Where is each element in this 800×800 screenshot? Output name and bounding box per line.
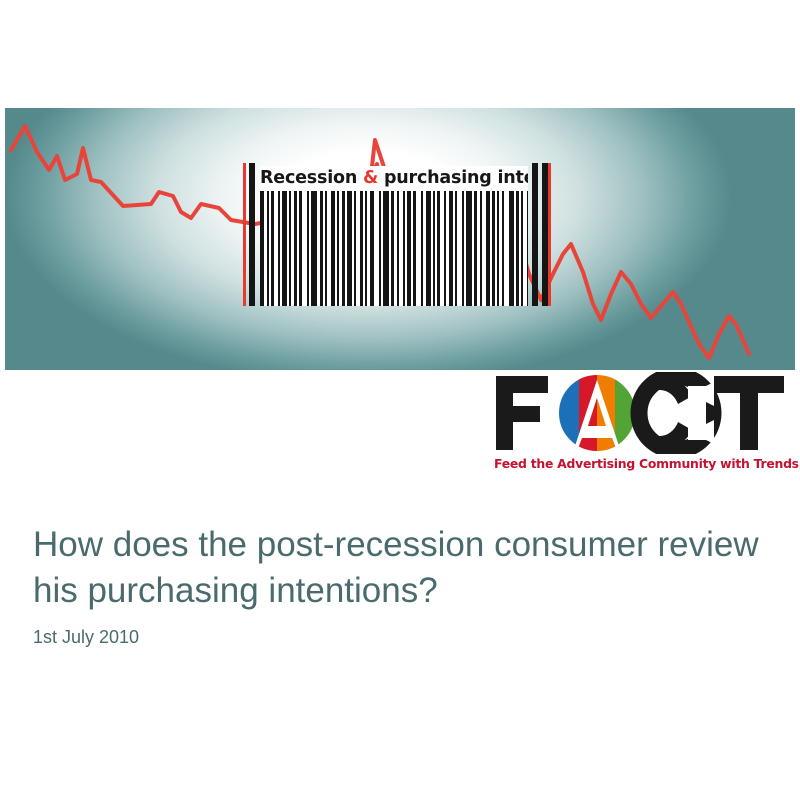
- barcode-label-prefix: Recession: [260, 168, 363, 188]
- barcode-red-guard-right: [548, 163, 551, 306]
- barcode-bar: [347, 191, 352, 306]
- barcode-bar: [527, 191, 528, 306]
- barcode-bar: [480, 191, 482, 306]
- barcode-bar: [260, 191, 264, 306]
- barcode-label: Recession & purchasing intention: [260, 166, 528, 191]
- barcode-bar: [370, 191, 374, 306]
- slide-title: How does the post-recession consumer rev…: [33, 522, 763, 614]
- barcode-bar: [379, 191, 381, 306]
- barcode-bar: [311, 191, 317, 306]
- barcode-bar: [502, 191, 504, 306]
- barcode-bar: [497, 191, 499, 306]
- barcode-bar: [421, 191, 423, 306]
- barcode-bar: [391, 191, 394, 306]
- barcode-bar: [325, 191, 327, 306]
- barcode-bars: [260, 191, 528, 306]
- barcode-bar: [278, 191, 280, 306]
- barcode-bar: [486, 191, 490, 306]
- barcode-bar: [397, 191, 399, 306]
- barcode-bar: [299, 191, 302, 306]
- barcode-bar: [426, 191, 431, 306]
- barcode-bar: [383, 191, 389, 306]
- barcode-bar: [331, 191, 335, 306]
- barcode-guard-bar-left: [249, 163, 255, 306]
- slide-date: 1st July 2010: [33, 627, 139, 648]
- barcode-label-suffix: purchasing intention: [378, 168, 528, 188]
- barcode-bar: [320, 191, 323, 306]
- barcode-bar: [492, 191, 495, 306]
- barcode-bar: [516, 191, 519, 306]
- barcode-bar: [403, 191, 405, 306]
- barcode-bar: [365, 191, 367, 306]
- fact-wordmark: [492, 372, 788, 454]
- logo-letter-a-mark: [558, 374, 636, 452]
- barcode-bar: [521, 191, 523, 306]
- barcode-bar: [337, 191, 339, 306]
- barcode-bar: [307, 191, 309, 306]
- barcode-bar: [294, 191, 297, 306]
- logo-letter-t: [714, 376, 784, 450]
- barcode-guard-bar-right-2: [542, 163, 548, 306]
- barcode-red-guard-left: [243, 163, 246, 306]
- barcode-bar: [444, 191, 446, 306]
- barcode-bar: [360, 191, 363, 306]
- barcode-bar: [433, 191, 435, 306]
- barcode-bar: [354, 191, 356, 306]
- barcode-bar: [413, 191, 416, 306]
- logo-letter-f: [496, 376, 548, 450]
- barcode-bar: [462, 191, 464, 306]
- barcode-bar: [509, 191, 514, 306]
- fact-logo-tagline: Feed the Advertising Community with Tren…: [494, 456, 788, 471]
- barcode-bar: [342, 191, 345, 306]
- barcode-bar: [474, 191, 477, 306]
- logo-letter-c: [632, 376, 714, 450]
- barcode-bar: [271, 191, 274, 306]
- barcode-label-ampersand: &: [363, 168, 378, 188]
- barcode-bar: [289, 191, 291, 306]
- barcode-bar: [267, 191, 269, 306]
- barcode-bar: [437, 191, 440, 306]
- fact-logo: Feed the Advertising Community with Tren…: [492, 372, 788, 480]
- barcode-bar: [449, 191, 453, 306]
- barcode-bar: [407, 191, 411, 306]
- barcode-bar: [282, 191, 287, 306]
- barcode-bar: [466, 191, 472, 306]
- barcode-graphic: Recession & purchasing intention: [240, 163, 560, 306]
- barcode-bar: [455, 191, 457, 306]
- barcode-guard-bar-right-1: [532, 163, 538, 306]
